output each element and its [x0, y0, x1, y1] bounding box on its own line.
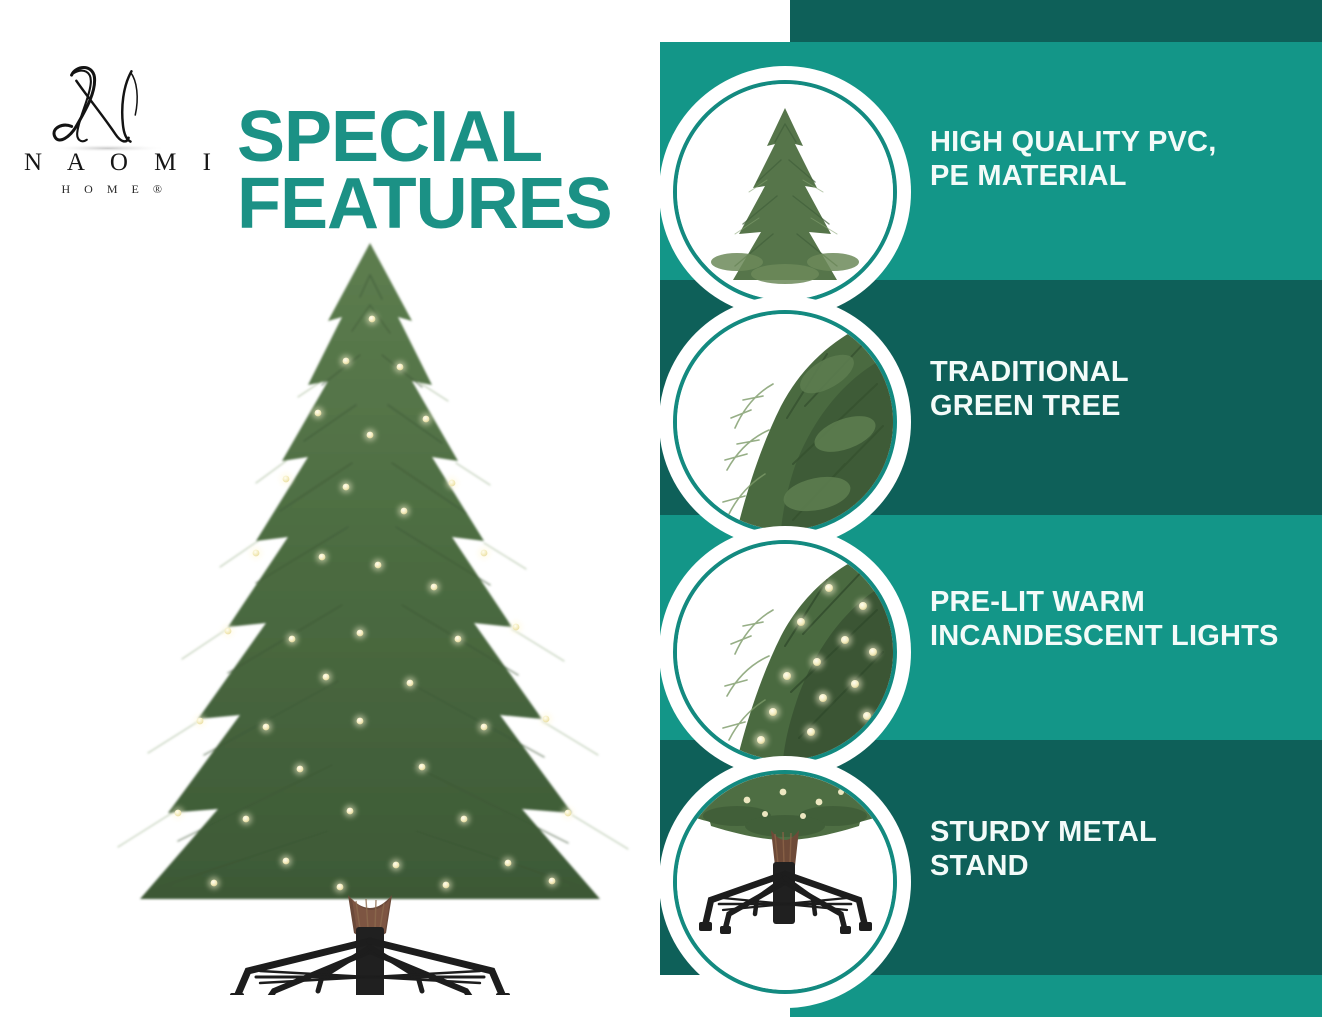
feature-material-line-2: PE MATERIAL	[930, 160, 1310, 194]
feature-label-green-tree: TRADITIONAL GREEN TREE	[930, 356, 1310, 424]
feature-thumbnail-pre-lit[interactable]	[673, 540, 897, 764]
band-footer	[790, 975, 1322, 1017]
feature-thumbnail-material[interactable]	[673, 80, 897, 304]
feature-label-stand: STURDY METAL STAND	[930, 816, 1310, 884]
feature-row-green-tree[interactable]: TRADITIONAL GREEN TREE	[0, 282, 1322, 514]
feature-stand-line-2: STAND	[930, 850, 1310, 884]
green-branches-closeup-icon	[677, 314, 893, 530]
feature-row-pre-lit[interactable]: PRE-LIT WARM INCANDESCENT LIGHTS	[0, 512, 1322, 744]
feature-green-tree-line-2: GREEN TREE	[930, 390, 1310, 424]
tree-top-closeup-icon	[677, 84, 893, 300]
metal-stand-closeup-icon	[677, 774, 893, 990]
feature-green-tree-line-1: TRADITIONAL	[930, 356, 1129, 388]
feature-pre-lit-line-2: INCANDESCENT LIGHTS	[930, 620, 1310, 654]
feature-row-material[interactable]: HIGH QUALITY PVC, PE MATERIAL	[0, 52, 1322, 284]
lit-branches-closeup-icon	[677, 544, 893, 760]
feature-label-material: HIGH QUALITY PVC, PE MATERIAL	[930, 126, 1310, 194]
feature-pre-lit-line-1: PRE-LIT WARM	[930, 586, 1145, 618]
feature-material-line-1: HIGH QUALITY PVC,	[930, 126, 1216, 158]
feature-row-stand[interactable]: STURDY METAL STAND	[0, 742, 1322, 974]
feature-stand-line-1: STURDY METAL	[930, 816, 1157, 848]
white-notch-col-top	[790, 0, 1322, 42]
feature-thumbnail-green-tree[interactable]	[673, 310, 897, 534]
feature-thumbnail-stand[interactable]	[673, 770, 897, 994]
feature-label-pre-lit: PRE-LIT WARM INCANDESCENT LIGHTS	[930, 586, 1310, 654]
feature-infographic: N A O M I H O M E ® SPECIAL FEATURES	[0, 0, 1322, 1017]
